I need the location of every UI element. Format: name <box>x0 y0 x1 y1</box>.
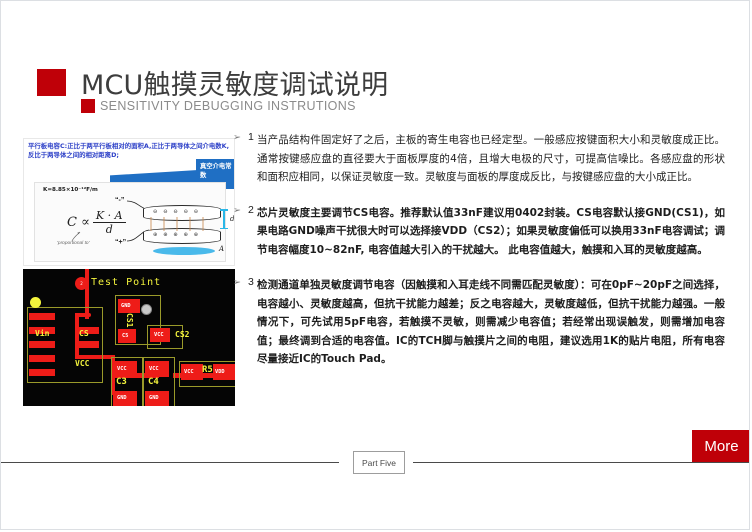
body-paragraph-1: ➢1 当产品结构件固定好了之后，主板的寄生电容也已经定型。一般感应按键面积大小和… <box>233 131 725 187</box>
pcb-pad-label: GND <box>117 395 127 401</box>
pcb-test-point-label: Test Point <box>91 277 161 288</box>
pcb-via-number: 2 <box>80 281 83 286</box>
more-button[interactable]: More <box>692 430 750 462</box>
pcb-pad-label: C5 <box>122 333 128 339</box>
pcb-pad-label: GND <box>149 395 159 401</box>
formula-denominator: d <box>93 223 126 236</box>
area-label: A <box>219 245 224 253</box>
paragraph-number: 3 <box>248 276 254 288</box>
paragraph-text: 芯片灵敏度主要调节CS电容。推荐默认值33nF建议用0402封装。CS电容默认接… <box>257 204 725 260</box>
pcb-label-cs2: CS2 <box>175 330 189 339</box>
pcb-label-cs: CS <box>79 329 89 338</box>
pcb-label-vin: Vin <box>35 329 49 338</box>
slide-canvas: MCU触摸灵敏度调试说明 SENSITIVITY DEBUGGING INSTR… <box>0 0 750 530</box>
paragraph-text: 当产品结构件固定好了之后，主板的寄生电容也已经定型。一般感应按键面积大小和灵敏度… <box>257 131 725 187</box>
plate-area-ellipse <box>153 247 215 255</box>
pcb-pad-label: VDD <box>215 369 225 375</box>
paragraph-number: 2 <box>248 204 254 216</box>
capacitor-diagram: 平行板电容C:正比于两平行板相对的面积A,正比于两导体之间介电数K,反比于两导体… <box>23 138 235 266</box>
footer: Part Five <box>1 462 749 463</box>
positive-charge-label: “+” <box>115 239 126 246</box>
callout-tail-shape <box>110 170 198 182</box>
pcb-label-c4: C4 <box>148 377 159 387</box>
pcb-via-marker: 2 <box>75 277 88 290</box>
page-title: MCU触摸灵敏度调试说明 <box>81 63 388 102</box>
pcb-label-r5: R5 <box>202 365 213 375</box>
pcb-pad-label: VCC <box>149 366 159 372</box>
plate-bottom-charges: ⊕⊕⊕⊕⊕ <box>153 232 204 238</box>
capacitor-illustration: K=8.85×10⁻¹²F/m C ∝ K · A d 'proportiona… <box>34 182 226 262</box>
footer-section-tag: Part Five <box>353 451 405 474</box>
page-subtitle: SENSITIVITY DEBUGGING INSTRUTIONS <box>100 99 356 113</box>
bullet-arrow-icon: ➢ <box>233 277 241 288</box>
subtitle-accent-square <box>81 99 95 113</box>
formula-fraction: K · A d <box>93 209 126 236</box>
pcb-label-c3: C3 <box>116 377 127 387</box>
permittivity-constant-label: K=8.85×10⁻¹²F/m <box>43 187 98 193</box>
paragraph-marker: ➢1 <box>233 131 263 143</box>
negative-charge-label: “-” <box>115 197 124 204</box>
capacitor-caption: 平行板电容C:正比于两平行板相对的面积A,正比于两导体之间介电数K,反比于两导体… <box>28 142 230 160</box>
pcb-ic-outline <box>27 307 103 383</box>
body-paragraph-2: ➢2 芯片灵敏度主要调节CS电容。推荐默认值33nF建议用0402封装。CS电容… <box>233 204 725 260</box>
pcb-pad-label: VCC <box>117 366 127 372</box>
slide-subtitle-row: SENSITIVITY DEBUGGING INSTRUTIONS <box>81 99 356 113</box>
proportional-note: 'proportional to' <box>57 241 90 246</box>
body-paragraph-3: ➢3 检测通道单独灵敏度调节电容（因触摸和入耳走线不同需匹配灵敏度）：可在0pF… <box>233 276 725 369</box>
pcb-pad-label: VCC <box>154 332 164 338</box>
pcb-pad-label: VCC <box>184 369 194 375</box>
paragraph-text: 检测通道单独灵敏度调节电容（因触摸和入耳走线不同需匹配灵敏度）：可在0pF~20… <box>257 276 725 369</box>
paragraph-number: 1 <box>248 131 254 143</box>
paragraph-marker: ➢2 <box>233 204 263 216</box>
pcb-pad-label: GND <box>121 303 131 309</box>
bullet-arrow-icon: ➢ <box>233 132 241 143</box>
formula-numerator: K · A <box>93 209 126 223</box>
plate-top-charges: ⊖⊖⊖⊖⊖ <box>153 209 204 215</box>
title-accent-square <box>37 69 66 96</box>
footer-rule-right <box>413 462 750 463</box>
plate-distance-marker <box>223 209 225 229</box>
formula-lhs: C ∝ <box>67 215 90 230</box>
bullet-arrow-icon: ➢ <box>233 205 241 216</box>
pcb-label-cs1: CS1 <box>125 313 134 327</box>
paragraph-marker: ➢3 <box>233 276 263 288</box>
more-button-label: More <box>704 438 738 455</box>
field-lines <box>147 217 217 231</box>
footer-rule-left <box>1 462 339 463</box>
pcb-marker-dot <box>30 297 41 308</box>
body-content: ➢1 当产品结构件固定好了之后，主板的寄生电容也已经定型。一般感应按键面积大小和… <box>233 131 725 386</box>
pcb-layout-image: 2 Test Point GND C5 CS1 VCC CS2 VCC GND … <box>23 269 235 406</box>
pcb-label-vcc: VCC <box>75 359 89 368</box>
